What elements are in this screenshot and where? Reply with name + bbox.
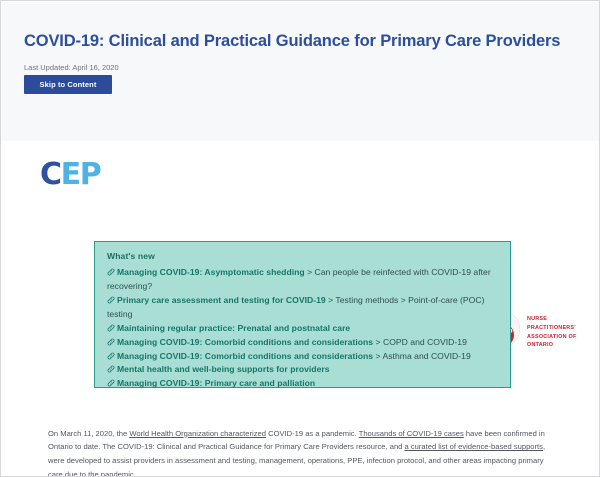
skip-to-content-button[interactable]: Skip to Content [24,75,112,94]
whats-new-callout: What's new Managing COVID-19: Asymptomat… [94,241,511,388]
whats-new-item-link[interactable]: Managing COVID-19: Asymptomatic shedding [117,267,305,277]
page-title: COVID-19: Clinical and Practical Guidanc… [24,32,560,51]
last-updated-text: Last Updated: April 16, 2020 [24,63,119,72]
whats-new-title: What's new [107,251,498,261]
whats-new-item[interactable]: Managing COVID-19: Comorbid conditions a… [107,350,498,364]
whats-new-item[interactable]: Managing COVID-19: Asymptomatic shedding… [107,266,498,294]
link-icon [107,379,115,387]
partner-logo-strip: CEP Centrefor EffectivePractice McMaster… [2,149,600,211]
whats-new-item-link[interactable]: Maintaining regular practice: Prenatal a… [117,323,350,333]
link-icon [107,338,115,346]
link-icon [107,296,115,304]
whats-new-item[interactable]: Maintaining regular practice: Prenatal a… [107,322,498,336]
intro-text-1: On March 11, 2020, the [48,429,129,438]
intro-text-2: COVID-19 as a pandemic. [266,429,359,438]
whats-new-item[interactable]: Primary care assessment and testing for … [107,294,498,322]
who-link[interactable]: World Health Organization characterized [129,429,266,438]
link-icon [107,324,115,332]
page-header-band: COVID-19: Clinical and Practical Guidanc… [2,2,600,141]
whats-new-item-detail: > COPD and COVID-19 [373,337,467,347]
supports-link[interactable]: a curated list of evidence-based support… [405,442,543,451]
whats-new-item-detail: > Asthma and COVID-19 [373,351,471,361]
link-icon [107,352,115,360]
link-icon [107,268,115,276]
whats-new-item-link[interactable]: Managing COVID-19: Comorbid conditions a… [117,337,373,347]
whats-new-item-link[interactable]: Primary care assessment and testing for … [117,295,326,305]
whats-new-list: Managing COVID-19: Asymptomatic shedding… [107,266,498,391]
whats-new-item-link[interactable]: Managing COVID-19: Primary care and pall… [117,378,315,388]
whats-new-item[interactable]: Mental health and well-being supports fo… [107,363,498,377]
whats-new-item[interactable]: Managing COVID-19: Comorbid conditions a… [107,336,498,350]
intro-paragraph: On March 11, 2020, the World Health Orga… [48,427,557,477]
cep-letters-ep: EP [61,160,101,190]
cep-logo: CEP [40,160,100,190]
whats-new-item[interactable]: Managing COVID-19: Primary care and pall… [107,377,498,391]
whats-new-item-link[interactable]: Managing COVID-19: Comorbid conditions a… [117,351,373,361]
whats-new-item-link[interactable]: Mental health and well-being supports fo… [117,364,330,374]
link-icon [107,365,115,373]
cep-letter-c: C [40,160,61,190]
npao-wordmark: NursePractitioners'Association ofOntario [527,315,577,350]
page-root: COVID-19: Clinical and Practical Guidanc… [0,0,600,477]
cases-link[interactable]: Thousands of COVID-19 cases [359,429,464,438]
